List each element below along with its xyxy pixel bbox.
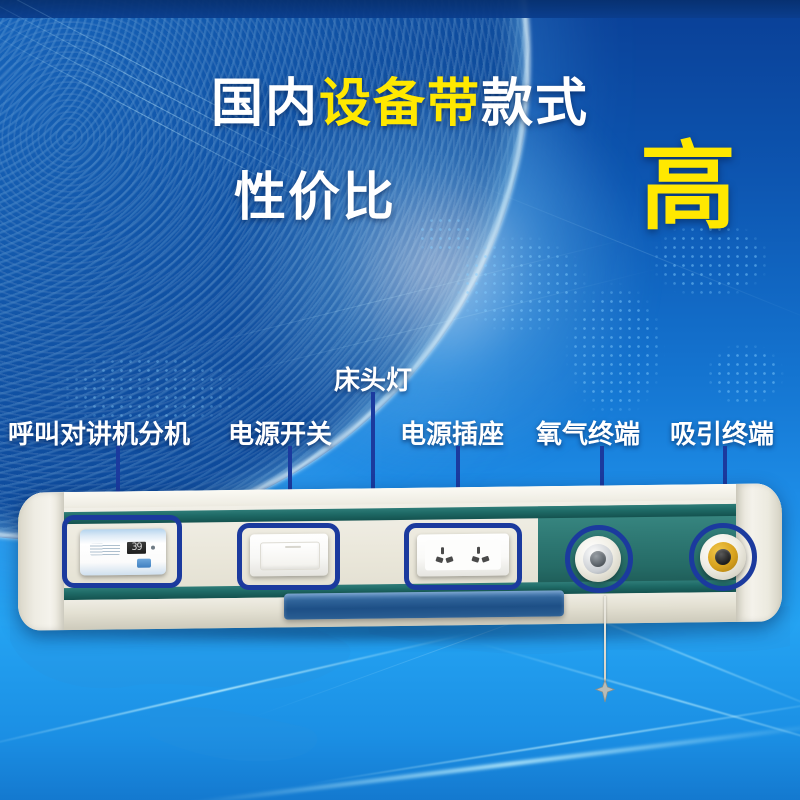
promo-banner: 国内设备带款式 性价比 高 呼叫对讲机分机 电源开关 床头灯 电源插座 氧气终端… <box>0 0 800 800</box>
headline-emphasis: 高 <box>640 140 736 236</box>
bed-lamp-diffuser[interactable] <box>284 590 564 619</box>
callout-label-power-socket: 电源插座 <box>400 414 504 451</box>
headline-part-2: 设备带 <box>319 74 481 134</box>
headline-subtext: 性价比 <box>234 168 396 228</box>
callout-label-power-switch: 电源开关 <box>228 414 332 451</box>
highlight-power-switch <box>237 523 340 590</box>
headline-line-1: 国内设备带款式 <box>0 78 800 130</box>
headline-part-1: 国内 <box>211 74 319 134</box>
highlight-oxygen-outlet <box>565 525 633 593</box>
highlight-power-socket <box>404 523 522 590</box>
callout-label-call-intercom: 呼叫对讲机分机 <box>8 414 190 451</box>
headline-part-3: 款式 <box>481 74 589 134</box>
callout-label-suction-outlet: 吸引终端 <box>670 414 774 451</box>
highlight-suction-outlet <box>689 523 757 591</box>
headline-block: 国内设备带款式 性价比 <box>0 78 800 130</box>
callout-label-oxygen-outlet: 氧气终端 <box>536 414 640 451</box>
pull-cord-icon[interactable] <box>604 596 606 682</box>
top-band <box>0 0 800 18</box>
pull-cord-handle[interactable] <box>592 678 618 704</box>
highlight-call-intercom <box>62 515 182 588</box>
panel-endcap-left <box>18 492 64 631</box>
